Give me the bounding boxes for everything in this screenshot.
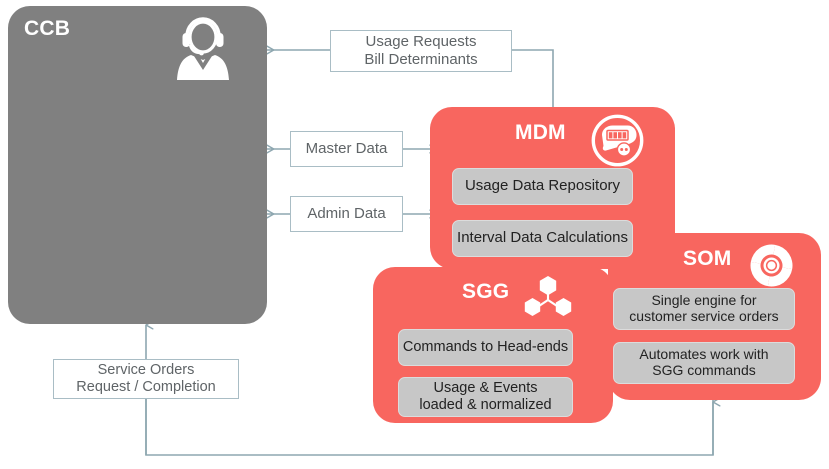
panel-som-title: SOM	[683, 247, 731, 271]
connector-label-line1: Admin Data	[307, 205, 385, 223]
panel-sgg-title: SGG	[462, 280, 509, 304]
connector-label-line2: Request / Completion	[76, 379, 215, 396]
sgg-item-label-line2: loaded & normalized	[419, 397, 551, 414]
mdm-item-label: Usage Data Repository	[465, 178, 620, 195]
network-hexagons-icon	[523, 275, 573, 321]
connector-label-line1: Service Orders	[98, 362, 195, 379]
utility-meter-icon	[591, 114, 644, 167]
mdm-item-interval-data-calculations[interactable]: Interval Data Calculations	[452, 220, 633, 257]
connector-label-line1: Master Data	[306, 140, 388, 158]
som-item-single-engine[interactable]: Single engine for customer service order…	[613, 288, 795, 330]
connector-label-line2: Bill Determinants	[364, 51, 477, 69]
sgg-item-commands-to-head-ends[interactable]: Commands to Head-ends	[398, 329, 573, 366]
som-item-automates-work[interactable]: Automates work with SGG commands	[613, 342, 795, 384]
panel-ccb-title: CCB	[24, 17, 70, 41]
connector-label-admin-data: Admin Data	[290, 196, 403, 232]
connector-label-usage-requests: Usage Requests Bill Determinants	[330, 30, 512, 72]
connector-label-master-data: Master Data	[290, 131, 403, 167]
panel-mdm-title: MDM	[515, 121, 566, 145]
lifebuoy-icon	[749, 243, 794, 288]
diagram-canvas: CCB Customer Account Rates and Billing P…	[0, 0, 829, 469]
headset-agent-icon	[172, 8, 234, 82]
som-item-label-line2: SGG commands	[652, 363, 755, 379]
som-item-label-line1: Automates work with	[639, 347, 768, 363]
sgg-item-label-line1: Usage & Events	[434, 380, 538, 397]
mdm-item-usage-data-repository[interactable]: Usage Data Repository	[452, 168, 633, 205]
mdm-item-label: Interval Data Calculations	[457, 230, 628, 247]
sgg-item-label: Commands to Head-ends	[403, 339, 568, 355]
som-item-label-line1: Single engine for	[651, 293, 756, 309]
som-item-label-line2: customer service orders	[629, 309, 778, 325]
connector-label-service-orders: Service Orders Request / Completion	[53, 359, 239, 399]
sgg-item-usage-events[interactable]: Usage & Events loaded & normalized	[398, 377, 573, 417]
wire-usage-requests	[512, 50, 553, 107]
connector-label-line1: Usage Requests	[366, 33, 477, 51]
